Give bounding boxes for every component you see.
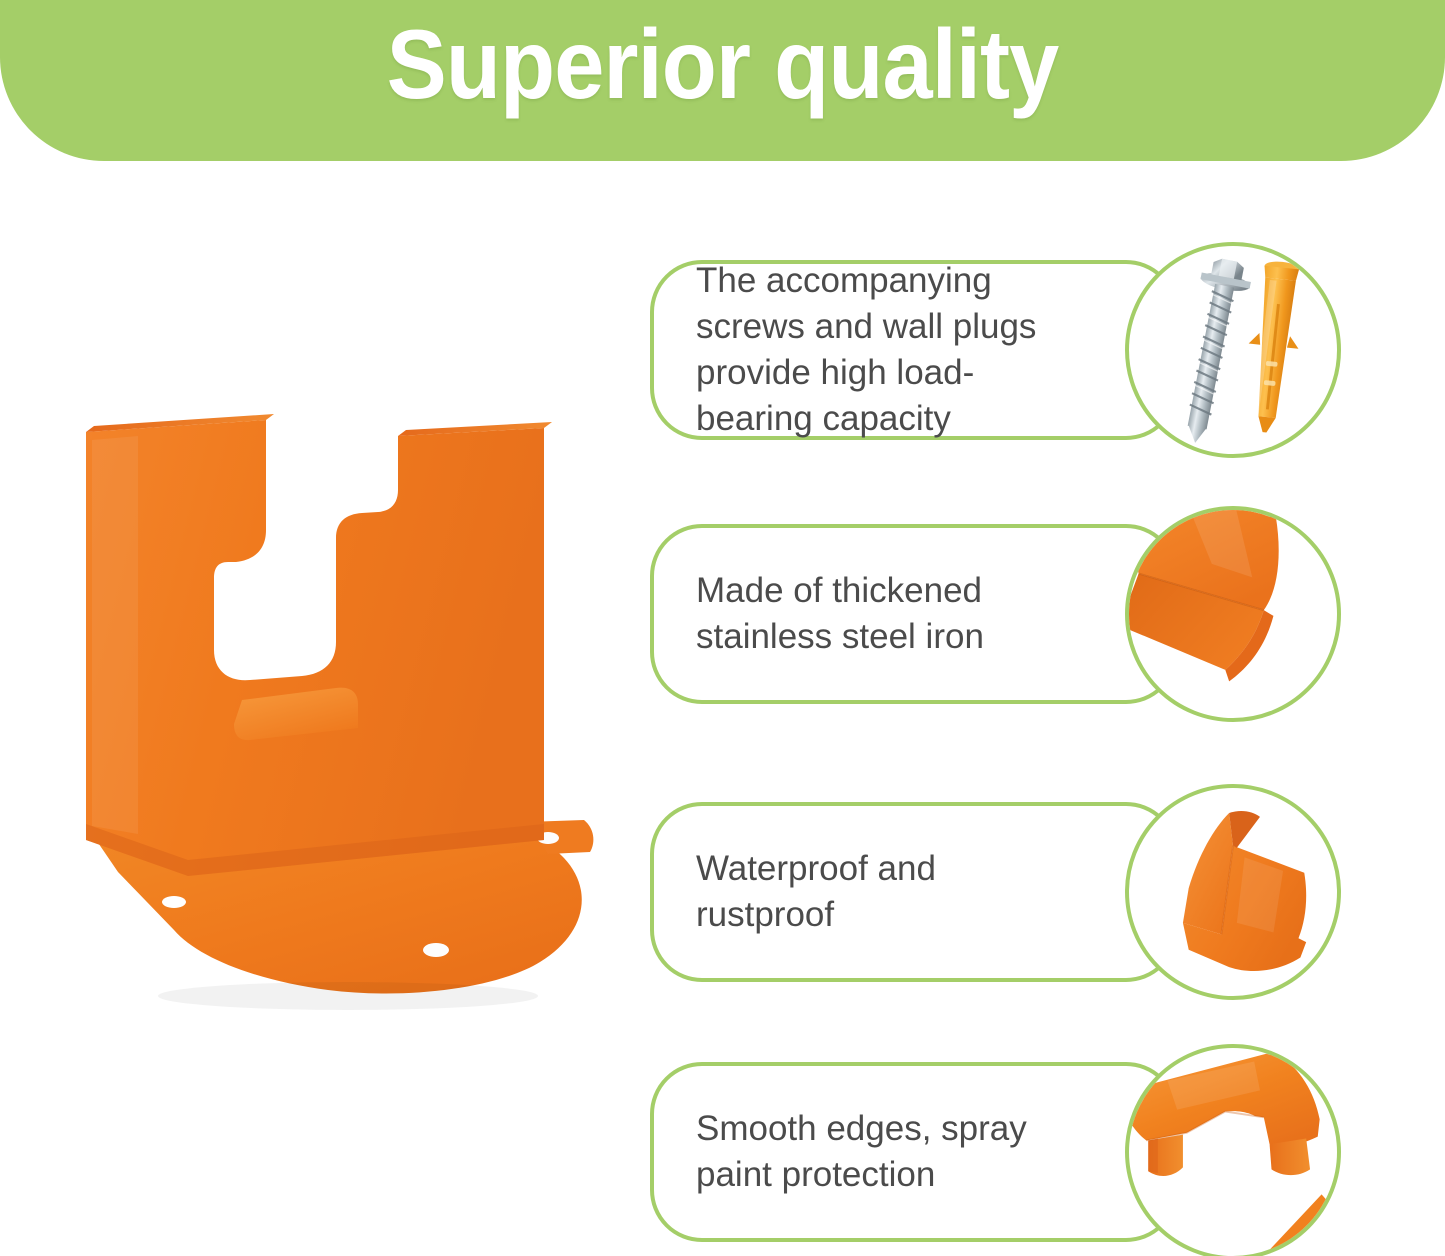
feature-label: Waterproof and rustproof [654,846,1174,938]
ground-shadow [158,982,538,1010]
header-banner: Superior quality [0,0,1445,161]
back-plate [86,420,544,876]
feature-text-box: The accompanying screws and wall plugs p… [650,260,1178,440]
mounting-hole-center [423,943,449,957]
mounting-hole-left [162,896,186,908]
feature-label: Made of thickened stainless steel iron [654,568,1174,660]
product-hero-image [78,410,618,1090]
feature-row-waterproof-rustproof: Waterproof and rustproof [650,802,1180,984]
feature-text-box: Made of thickened stainless steel iron [650,524,1178,704]
infographic-page: Superior quality [0,0,1445,1256]
u-cutout-edge-photo [1125,1044,1341,1256]
hex-head-screw [1170,255,1255,447]
screw-and-wall-plug-photo [1125,242,1341,458]
coated-metal-panel-photo [1125,784,1341,1000]
feature-label: The accompanying screws and wall plugs p… [654,258,1174,442]
page-title: Superior quality [58,4,1387,124]
folded-metal-corner-photo [1125,506,1341,722]
feature-text-box: Smooth edges, spray paint protection [650,1062,1178,1242]
sheen [92,436,138,834]
feature-row-smooth-edges: Smooth edges, spray paint protection [650,1062,1180,1244]
feature-text-box: Waterproof and rustproof [650,802,1178,982]
feature-row-screws-wall-plugs: The accompanying screws and wall plugs p… [650,260,1180,442]
feature-label: Smooth edges, spray paint protection [654,1106,1174,1198]
feature-row-thickened-steel: Made of thickened stainless steel iron [650,524,1180,706]
